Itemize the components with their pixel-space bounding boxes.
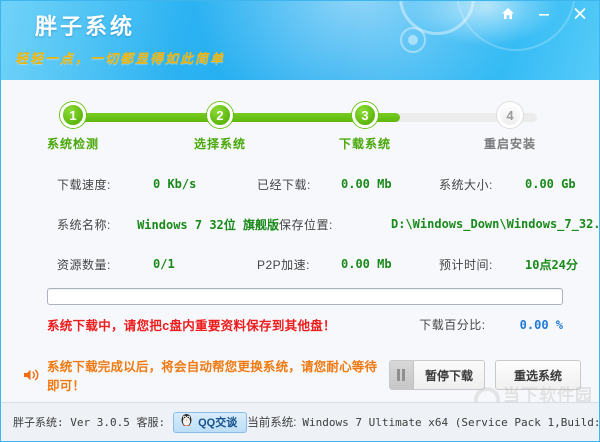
step-3-download-system[interactable]: 3 下载系统 (333, 100, 397, 152)
system-size-value: 0.00 Gb (525, 177, 576, 191)
app-title: 胖子系统 (35, 9, 135, 41)
app-slogan: 轻轻一点，一切都显得如此简单 (15, 48, 225, 67)
save-location-label: 保存位置: (279, 216, 391, 233)
field-p2p-accel: P2P加速: 0.00 Mb (257, 256, 439, 273)
resource-count-label: 资源数量: (57, 256, 153, 273)
progress-section: 系统下载中，请您把c盘内重要资料保存到其他盘！ 下载百分比: 0.00 % (47, 288, 563, 334)
estimated-time-label: 预计时间: (439, 256, 525, 273)
download-percent-label: 下载百分比: (419, 316, 485, 333)
current-system-value: Windows 7 Ultimate x64 (Service Pack 1,B… (302, 416, 600, 429)
qq-chat-label: QQ交谈 (198, 414, 237, 430)
step-1-system-detect[interactable]: 1 系统检测 (41, 100, 105, 152)
estimated-time-value: 10点24分 (525, 256, 578, 273)
title-banner: 胖子系统 轻轻一点，一切都显得如此简单 (1, 1, 599, 80)
p2p-accel-label: P2P加速: (257, 256, 341, 273)
home-icon[interactable] (495, 3, 521, 23)
download-progress-bar (47, 288, 563, 305)
system-name-value: Windows 7 32位 旗舰版 (137, 216, 279, 233)
action-bar: 系统下载完成以后，将会自动帮您更换系统，请您耐心等待即可！ 暂停下载 重选系统 (23, 356, 581, 394)
window-controls (495, 3, 593, 23)
pause-icon (390, 361, 414, 389)
info-row-resources: 资源数量: 0/1 P2P加速: 0.00 Mb 预计时间: 10点24分 (1, 244, 599, 284)
save-location-value: D:\Windows_Down\Windows_7_32.Gho (391, 217, 600, 231)
step-3-number: 3 (352, 102, 378, 128)
progress-status-line: 系统下载中，请您把c盘内重要资料保存到其他盘！ 下载百分比: 0.00 % (47, 315, 563, 334)
info-row-system: 系统名称: Windows 7 32位 旗舰版 保存位置: D:\Windows… (1, 204, 599, 244)
step-4-reboot-install[interactable]: 4 重启安装 (478, 100, 542, 152)
current-system-group: 当前系统: Windows 7 Ultimate x64 (Service Pa… (247, 414, 600, 430)
speaker-icon (23, 368, 40, 382)
downloaded-value: 0.00 Mb (341, 177, 392, 191)
field-resource-count: 资源数量: 0/1 (57, 256, 257, 273)
field-system-size: 系统大小: 0.00 Gb (439, 176, 576, 193)
field-system-name: 系统名称: Windows 7 32位 旗舰版 (57, 216, 279, 233)
step-3-label: 下载系统 (333, 135, 397, 152)
step-1-label: 系统检测 (41, 135, 105, 152)
download-warning-text: 系统下载中，请您把c盘内重要资料保存到其他盘！ (47, 315, 336, 334)
resource-count-value: 0/1 (153, 257, 175, 271)
downloaded-label: 已经下载: (257, 176, 341, 193)
field-save-location: 保存位置: D:\Windows_Down\Windows_7_32.Gho (279, 216, 600, 233)
minimize-icon[interactable] (531, 3, 557, 23)
p2p-accel-value: 0.00 Mb (341, 257, 392, 271)
system-size-label: 系统大小: (439, 176, 525, 193)
qq-penguin-icon (180, 412, 193, 432)
step-4-label: 重启安装 (478, 135, 542, 152)
pause-download-label: 暂停下载 (414, 361, 484, 389)
step-2-select-system[interactable]: 2 选择系统 (188, 100, 252, 152)
download-info: 下载速度: 0 Kb/s 已经下载: 0.00 Mb 系统大小: 0.00 Gb… (1, 164, 599, 284)
download-percent-value: 0.00 % (520, 318, 563, 332)
action-buttons: 暂停下载 重选系统 (389, 360, 581, 390)
download-percent-group: 下载百分比: 0.00 % (419, 316, 563, 333)
status-bar: 胖子系统: Ver 3.0.5 客服: QQ交谈 当前系统: Windows 7… (1, 402, 599, 441)
step-1-number: 1 (60, 102, 86, 128)
field-download-speed: 下载速度: 0 Kb/s (57, 176, 257, 193)
reselect-system-button[interactable]: 重选系统 (495, 360, 581, 390)
qq-chat-button[interactable]: QQ交谈 (173, 412, 247, 433)
download-speed-value: 0 Kb/s (153, 177, 196, 191)
info-row-speed: 下载速度: 0 Kb/s 已经下载: 0.00 Mb 系统大小: 0.00 Gb (1, 164, 599, 204)
main-panel: 1 系统检测 2 选择系统 3 下载系统 4 重启安装 下载速度: 0 Kb/s (1, 80, 599, 402)
app-version-text: 胖子系统: Ver 3.0.5 客服: (13, 414, 165, 430)
progress-stepper: 1 系统检测 2 选择系统 3 下载系统 4 重启安装 (63, 100, 537, 154)
field-estimated-time: 预计时间: 10点24分 (439, 256, 578, 273)
close-icon[interactable] (567, 3, 593, 23)
field-downloaded: 已经下载: 0.00 Mb (257, 176, 439, 193)
step-4-number: 4 (497, 102, 523, 128)
system-name-label: 系统名称: (57, 216, 137, 233)
download-speed-label: 下载速度: (57, 176, 153, 193)
current-system-label: 当前系统: (247, 414, 296, 430)
pause-download-button[interactable]: 暂停下载 (389, 360, 485, 390)
completion-note: 系统下载完成以后，将会自动帮您更换系统，请您耐心等待即可！ (47, 356, 389, 394)
banner-ring-small (400, 27, 426, 53)
reselect-system-label: 重选系统 (514, 367, 562, 384)
app-window: 胖子系统 轻轻一点，一切都显得如此简单 1 (0, 0, 600, 442)
step-2-number: 2 (207, 102, 233, 128)
step-2-label: 选择系统 (188, 135, 252, 152)
